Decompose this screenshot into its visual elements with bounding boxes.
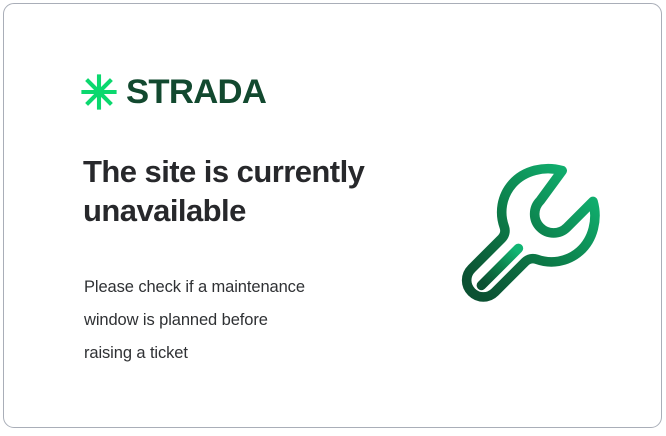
page-title-line-1: The site is currently — [83, 154, 364, 189]
error-page: STRADA The site is currently unavailable… — [0, 0, 666, 436]
page-description: Please check if a maintenance window is … — [84, 271, 384, 370]
page-description-line-1: Please check if a maintenance — [84, 271, 384, 304]
asterisk-starburst-icon — [79, 72, 119, 112]
brand-logo: STRADA — [79, 72, 263, 112]
page-title: The site is currently unavailable — [83, 152, 413, 230]
page-title-line-2: unavailable — [83, 193, 246, 228]
wrench-icon — [456, 152, 616, 317]
page-description-line-2: window is planned before — [84, 304, 384, 337]
brand-wordmark: STRADA — [126, 75, 266, 109]
page-description-line-3: raising a ticket — [84, 337, 384, 370]
status-card: STRADA The site is currently unavailable… — [3, 3, 662, 428]
